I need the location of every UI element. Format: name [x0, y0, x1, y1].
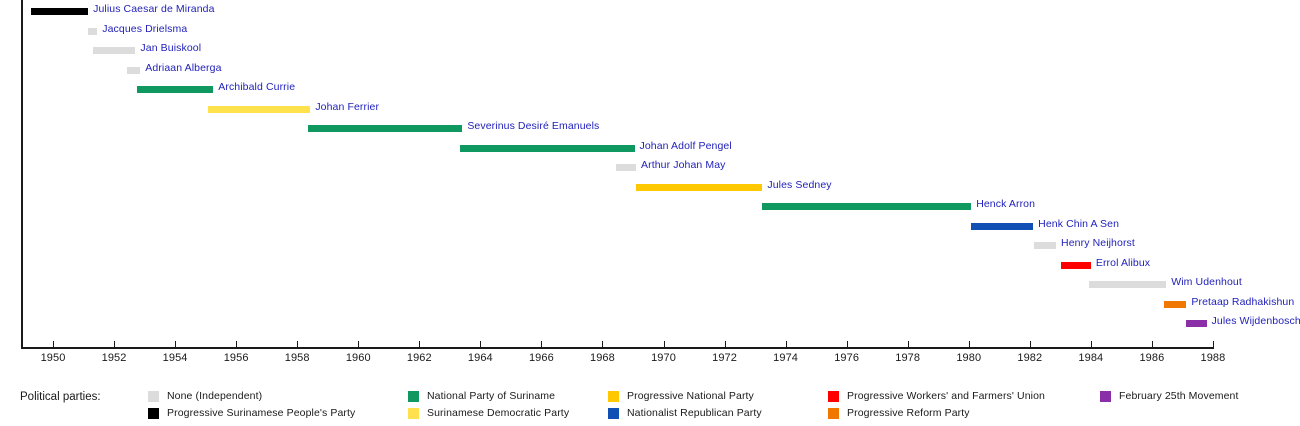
- timeline-bar-label: Wim Udenhout: [1171, 276, 1242, 288]
- legend-color-swatch: [148, 408, 159, 419]
- x-axis-tick-label: 1978: [895, 352, 920, 364]
- timeline-bar[interactable]: [1186, 320, 1206, 327]
- timeline-bar-label: Severinus Desiré Emanuels: [467, 120, 599, 132]
- legend: Political parties: None (Independent)Pro…: [0, 386, 1300, 426]
- timeline-bar[interactable]: [460, 145, 634, 152]
- legend-color-swatch: [608, 391, 619, 402]
- x-axis-tick-label: 1982: [1017, 352, 1042, 364]
- timeline-bar-row[interactable]: Adriaan Alberga: [0, 61, 1300, 81]
- x-axis-tick-label: 1972: [712, 352, 737, 364]
- timeline-bar[interactable]: [636, 184, 762, 191]
- x-axis-tick: [236, 341, 237, 349]
- timeline-bar[interactable]: [208, 106, 310, 113]
- x-axis-tick: [602, 341, 603, 349]
- timeline-bar[interactable]: [1164, 301, 1186, 308]
- legend-title: Political parties:: [20, 391, 101, 403]
- timeline-bar[interactable]: [31, 8, 88, 15]
- timeline-bar-row[interactable]: Johan Adolf Pengel: [0, 139, 1300, 159]
- timeline-bar[interactable]: [93, 47, 135, 54]
- timeline-bar-label: Errol Alibux: [1096, 257, 1150, 269]
- timeline-bar-label: Johan Ferrier: [315, 101, 379, 113]
- x-axis-tick: [1152, 341, 1153, 349]
- x-axis-tick-label: 1952: [102, 352, 127, 364]
- legend-entry-label: Nationalist Republican Party: [627, 407, 762, 419]
- legend-color-swatch: [828, 408, 839, 419]
- timeline-bar[interactable]: [1061, 262, 1091, 269]
- timeline-bar-row[interactable]: Jan Buiskool: [0, 41, 1300, 61]
- legend-color-swatch: [148, 391, 159, 402]
- timeline-bar-row[interactable]: Henck Arron: [0, 197, 1300, 217]
- timeline-bar-label: Archibald Currie: [218, 81, 295, 93]
- timeline-bar[interactable]: [762, 203, 971, 210]
- timeline-bar-label: Jules Sedney: [767, 179, 831, 191]
- legend-entry-label: National Party of Suriname: [427, 390, 555, 402]
- timeline-bar-label: Arthur Johan May: [641, 159, 725, 171]
- timeline-bar-row[interactable]: Wim Udenhout: [0, 275, 1300, 295]
- timeline-bar-label: Jan Buiskool: [140, 42, 201, 54]
- x-axis-tick: [847, 341, 848, 349]
- timeline-bar-label: Julius Caesar de Miranda: [93, 3, 214, 15]
- x-axis-tick: [725, 341, 726, 349]
- x-axis-tick-label: 1968: [590, 352, 615, 364]
- x-axis-tick-label: 1964: [468, 352, 493, 364]
- x-axis-tick: [297, 341, 298, 349]
- timeline-bar[interactable]: [1034, 242, 1056, 249]
- legend-entry-label: Progressive Surinamese People's Party: [167, 407, 355, 419]
- legend-entry-label: Progressive Reform Party: [847, 407, 970, 419]
- x-axis-tick: [541, 341, 542, 349]
- x-axis-tick-label: 1966: [529, 352, 554, 364]
- x-axis-tick-label: 1956: [224, 352, 249, 364]
- x-axis-tick-label: 1986: [1139, 352, 1164, 364]
- x-axis-tick: [1213, 341, 1214, 349]
- timeline-bar-label: Jules Wijdenbosch: [1212, 315, 1300, 327]
- timeline-bar-label: Jacques Drielsma: [102, 23, 187, 35]
- x-axis-tick: [419, 341, 420, 349]
- x-axis-tick: [175, 341, 176, 349]
- timeline-bar-row[interactable]: Johan Ferrier: [0, 100, 1300, 120]
- x-axis-tick-label: 1988: [1201, 352, 1226, 364]
- timeline-bar-row[interactable]: Jacques Drielsma: [0, 22, 1300, 42]
- x-axis-tick-label: 1984: [1078, 352, 1103, 364]
- legend-entry-label: Surinamese Democratic Party: [427, 407, 569, 419]
- legend-color-swatch: [608, 408, 619, 419]
- timeline-bar-row[interactable]: Errol Alibux: [0, 256, 1300, 276]
- timeline-bar-row[interactable]: Severinus Desiré Emanuels: [0, 119, 1300, 139]
- legend-entry-label: February 25th Movement: [1119, 390, 1239, 402]
- x-axis-tick-label: 1954: [163, 352, 188, 364]
- legend-color-swatch: [828, 391, 839, 402]
- x-axis-tick: [908, 341, 909, 349]
- timeline-bar-row[interactable]: Pretaap Radhakishun: [0, 295, 1300, 315]
- x-axis-tick: [664, 341, 665, 349]
- x-axis-tick-label: 1980: [956, 352, 981, 364]
- x-axis-tick-label: 1976: [834, 352, 859, 364]
- timeline-bar-row[interactable]: Henk Chin A Sen: [0, 217, 1300, 237]
- legend-color-swatch: [408, 408, 419, 419]
- timeline-bar-label: Johan Adolf Pengel: [640, 140, 732, 152]
- timeline-bar[interactable]: [616, 164, 636, 171]
- timeline-bar-label: Henk Chin A Sen: [1038, 218, 1119, 230]
- x-axis-tick: [1091, 341, 1092, 349]
- timeline-bar-row[interactable]: Henry Neijhorst: [0, 236, 1300, 256]
- x-axis-tick-label: 1970: [651, 352, 676, 364]
- timeline-bar-label: Pretaap Radhakishun: [1191, 296, 1294, 308]
- x-axis-tick: [1030, 341, 1031, 349]
- legend-color-swatch: [408, 391, 419, 402]
- timeline-bar[interactable]: [127, 67, 140, 74]
- x-axis-tick: [114, 341, 115, 349]
- timeline-bar-label: Henck Arron: [976, 198, 1035, 210]
- timeline-bar[interactable]: [137, 86, 213, 93]
- x-axis-tick-label: 1960: [346, 352, 371, 364]
- timeline-bar-row[interactable]: Archibald Currie: [0, 80, 1300, 100]
- timeline-bar-label: Henry Neijhorst: [1061, 237, 1135, 249]
- x-axis-tick-label: 1974: [773, 352, 798, 364]
- x-axis-tick-label: 1962: [407, 352, 432, 364]
- timeline-bar-row[interactable]: Jules Sedney: [0, 178, 1300, 198]
- timeline-bar[interactable]: [308, 125, 462, 132]
- timeline-bar-row[interactable]: Julius Caesar de Miranda: [0, 2, 1300, 22]
- x-axis-tick: [358, 341, 359, 349]
- timeline-bar[interactable]: [971, 223, 1033, 230]
- timeline-bar-row[interactable]: Arthur Johan May: [0, 158, 1300, 178]
- legend-entry-label: Progressive National Party: [627, 390, 754, 402]
- x-axis-tick: [969, 341, 970, 349]
- x-axis-tick-label: 1950: [41, 352, 66, 364]
- x-axis-line: [21, 347, 1213, 349]
- x-axis-tick-label: 1958: [285, 352, 310, 364]
- timeline-bar-row[interactable]: Jules Wijdenbosch: [0, 314, 1300, 334]
- x-axis-tick: [480, 341, 481, 349]
- timeline-bar[interactable]: [88, 28, 97, 35]
- legend-color-swatch: [1100, 391, 1111, 402]
- timeline-bar-label: Adriaan Alberga: [145, 62, 221, 74]
- legend-entry-label: None (Independent): [167, 390, 262, 402]
- timeline-bar[interactable]: [1089, 281, 1166, 288]
- x-axis-tick: [786, 341, 787, 349]
- legend-entry-label: Progressive Workers' and Farmers' Union: [847, 390, 1045, 402]
- timeline-chart: 1950195219541956195819601962196419661968…: [0, 0, 1300, 375]
- x-axis-tick: [53, 341, 54, 349]
